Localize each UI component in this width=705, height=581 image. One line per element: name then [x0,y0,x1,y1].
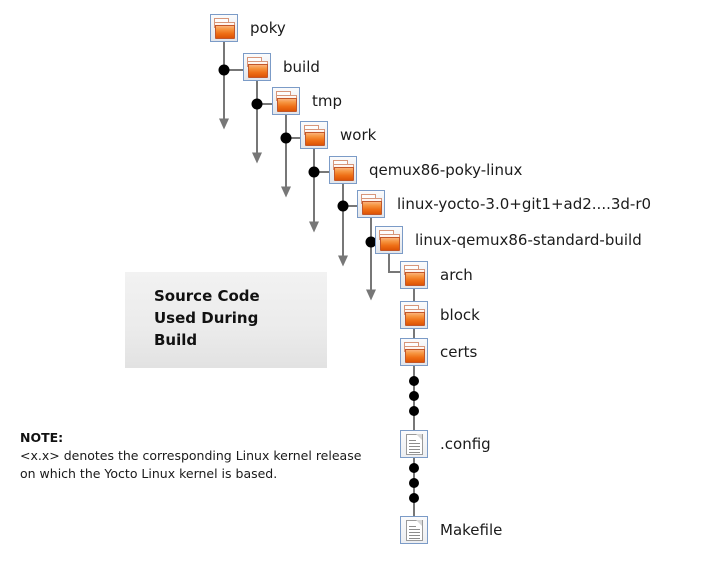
folder-icon [210,14,238,42]
note-block: NOTE: <x.x> denotes the corresponding Li… [20,430,380,483]
folder-icon [243,53,271,81]
folder-icon [400,261,428,289]
tree-node-build[interactable]: build [243,53,320,81]
note-title: NOTE: [20,430,380,445]
node-label: linux-yocto-3.0+git1+ad2....3d-r0 [397,197,651,212]
node-label: build [283,60,320,75]
folder-icon [329,156,357,184]
folder-icon [300,121,328,149]
tree-node-qemux86-poky-linux[interactable]: qemux86-poky-linux [329,156,522,184]
tree-node-config-file[interactable]: .config [400,430,491,458]
node-label: poky [250,21,286,36]
folder-icon [400,301,428,329]
node-label: work [340,128,376,143]
tree-node-makefile[interactable]: Makefile [400,516,502,544]
folder-icon [400,338,428,366]
note-body: <x.x> denotes the corresponding Linux ke… [20,447,380,483]
node-label: arch [440,268,473,283]
connector-lines [0,0,705,581]
source-code-callout: Source Code Used During Build [125,272,327,368]
tree-node-linux-yocto[interactable]: linux-yocto-3.0+git1+ad2....3d-r0 [357,190,651,218]
source-code-callout-text: Source Code Used During Build [154,286,260,352]
tree-node-certs[interactable]: certs [400,338,477,366]
tree-node-tmp[interactable]: tmp [272,87,342,115]
diagram-canvas: poky build tmp work qemux86-poky-linux l… [0,0,705,581]
tree-node-block[interactable]: block [400,301,480,329]
node-label: certs [440,345,477,360]
node-label: .config [440,437,491,452]
node-label: tmp [312,94,342,109]
folder-icon [272,87,300,115]
node-label: linux-qemux86-standard-build [415,233,642,248]
node-label: Makefile [440,523,502,538]
tree-node-arch[interactable]: arch [400,261,473,289]
file-icon [400,430,428,458]
file-icon [400,516,428,544]
tree-node-work[interactable]: work [300,121,376,149]
node-label: block [440,308,480,323]
node-label: qemux86-poky-linux [369,163,522,178]
tree-node-poky[interactable]: poky [210,14,286,42]
tree-node-linux-qemux86-standard-build[interactable]: linux-qemux86-standard-build [375,226,642,254]
folder-icon [375,226,403,254]
folder-icon [357,190,385,218]
